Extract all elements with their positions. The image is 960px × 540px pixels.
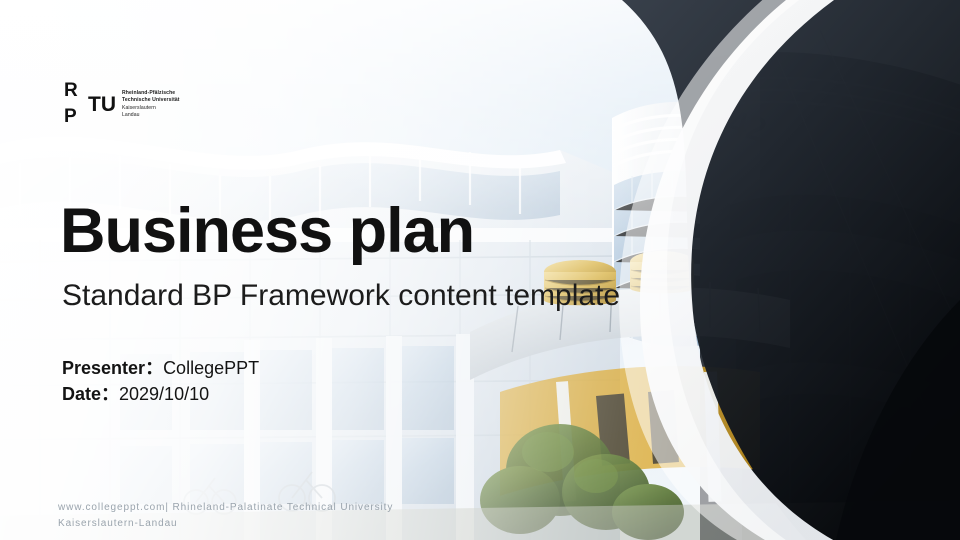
logo-wordmark-line-4: Landau <box>122 112 226 119</box>
logo-wordmark-line-2: Technische Universität <box>122 97 226 104</box>
logo-wordmark-line-3: Kaiserslautern <box>122 105 226 112</box>
slide-title: Business plan <box>60 198 474 264</box>
presenter-value: CollegePPT <box>163 358 259 378</box>
date-value: 2029/10/10 <box>119 384 209 404</box>
logo-letter-tu: TU <box>88 94 116 115</box>
presenter-row: Presenter：CollegePPT <box>62 355 259 381</box>
logo-wordmark-line-1: Rheinland-Pfälzische <box>122 90 226 97</box>
footer-line-1: www.collegeppt.com| Rhineland-Palatinate… <box>58 500 393 516</box>
date-label: Date <box>62 384 101 404</box>
logo-wordmark: Rheinland-Pfälzische Technische Universi… <box>122 90 226 120</box>
title-slide: 42 <box>0 0 960 540</box>
presenter-label: Presenter <box>62 358 145 378</box>
presenter-date-block: Presenter：CollegePPT Date：2029/10/10 <box>62 355 259 407</box>
slide-subtitle: Standard BP Framework content template <box>62 278 620 314</box>
slide-content: R TU P Rheinland-Pfälzische Technische U… <box>0 0 960 540</box>
footer-line-2: Kaiserslautern-Landau <box>58 516 393 532</box>
rptu-logo: R TU P Rheinland-Pfälzische Technische U… <box>58 78 228 136</box>
date-row: Date：2029/10/10 <box>62 381 259 407</box>
date-separator: ： <box>101 384 119 404</box>
logo-letter-r: R <box>64 81 78 100</box>
presenter-separator: ： <box>145 358 163 378</box>
logo-letter-p: P <box>64 107 77 126</box>
footer: www.collegeppt.com| Rhineland-Palatinate… <box>58 500 393 532</box>
